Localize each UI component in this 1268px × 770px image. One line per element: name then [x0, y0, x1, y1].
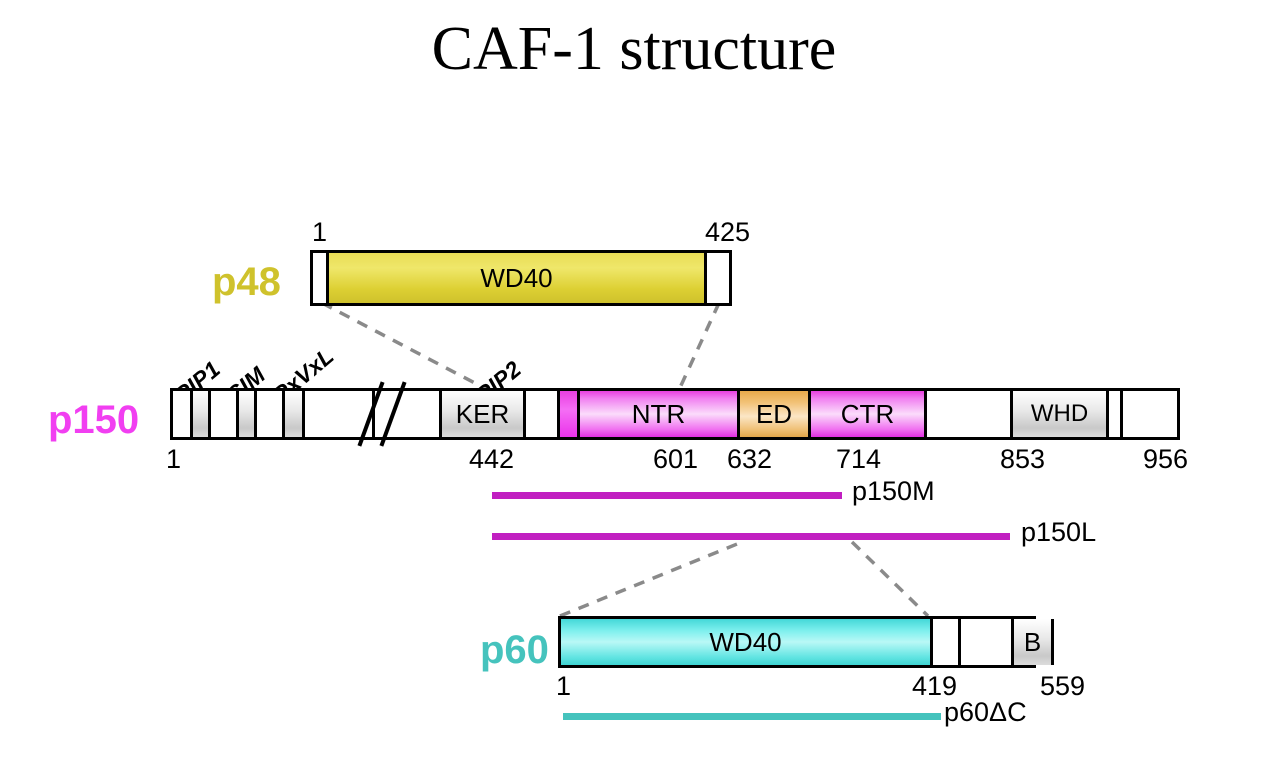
p150-segment-ntr: NTR [580, 391, 740, 437]
construct-label-p150l: p150L [1021, 519, 1096, 546]
p150-number-442: 442 [469, 446, 514, 473]
p60-segment-b: B [1014, 619, 1054, 665]
page-title: CAF-1 structure [0, 14, 1268, 85]
p150-segment-ctr: CTR [811, 391, 927, 437]
p150-segment-ker: KER [442, 391, 526, 437]
p150-segment-pxvxl [285, 391, 305, 437]
p48-segment-wd40: WD40 [329, 253, 707, 303]
p150-segment-pip1 [193, 391, 211, 437]
protein-label-p60: p60 [480, 630, 549, 670]
p150-segment-7 [1109, 391, 1123, 437]
protein-label-p48: p48 [212, 262, 281, 302]
p150-ed-label: ED [740, 401, 808, 427]
p150-segment-ed: ED [740, 391, 811, 437]
p150-segment-sim [239, 391, 257, 437]
construct-line-p150l [492, 533, 1010, 540]
p60-segment-wd40: WD40 [561, 619, 933, 665]
p48-segment-cterm [707, 253, 729, 303]
p48-number-start: 1 [312, 219, 327, 246]
p150-ctr-label: CTR [811, 401, 924, 427]
p150-segment-8 [1123, 391, 1177, 437]
p60-segment-1 [933, 619, 961, 665]
p150-segment-1 [173, 391, 193, 437]
p150-domain-bar: KER NTR ED CTR WHD [170, 388, 1180, 440]
construct-line-p60dc [563, 713, 941, 720]
p150-whd-label: WHD [1013, 402, 1106, 426]
p150-segment-5 [526, 391, 560, 437]
p60-number-559: 559 [1040, 673, 1085, 700]
p60-wd40-label: WD40 [561, 629, 930, 655]
p60-segment-2 [961, 619, 1014, 665]
p150-number-632: 632 [727, 446, 772, 473]
p150-number-1: 1 [166, 446, 181, 473]
p150-segment-2 [211, 391, 239, 437]
p48-domain-bar: WD40 [310, 250, 732, 306]
p150-segment-pip2 [560, 391, 580, 437]
p60-number-start: 1 [556, 673, 571, 700]
p150-number-601: 601 [653, 446, 698, 473]
p150-segment-6 [927, 391, 1013, 437]
p150-number-956: 956 [1143, 446, 1188, 473]
p60-domain-bar: WD40 B [558, 616, 1036, 668]
diagram-canvas: CAF-1 structure p48 1 425 WD40 p150 PIP1… [0, 0, 1268, 770]
p60-b-label: B [1014, 629, 1051, 655]
p150-segment-3 [257, 391, 285, 437]
p60-number-419: 419 [912, 673, 957, 700]
p48-wd40-label: WD40 [329, 265, 704, 291]
p150-ntr-label: NTR [580, 401, 737, 427]
p48-number-end: 425 [705, 219, 750, 246]
p150-number-714: 714 [836, 446, 881, 473]
p150-segment-whd: WHD [1013, 391, 1109, 437]
construct-label-p60dc: p60ΔC [944, 699, 1027, 726]
construct-label-p150m: p150M [852, 478, 935, 505]
protein-label-p150: p150 [48, 400, 139, 440]
p150-number-853: 853 [1000, 446, 1045, 473]
construct-line-p150m [492, 492, 842, 499]
p48-segment-nterm [313, 253, 329, 303]
p150-ker-label: KER [442, 401, 523, 427]
